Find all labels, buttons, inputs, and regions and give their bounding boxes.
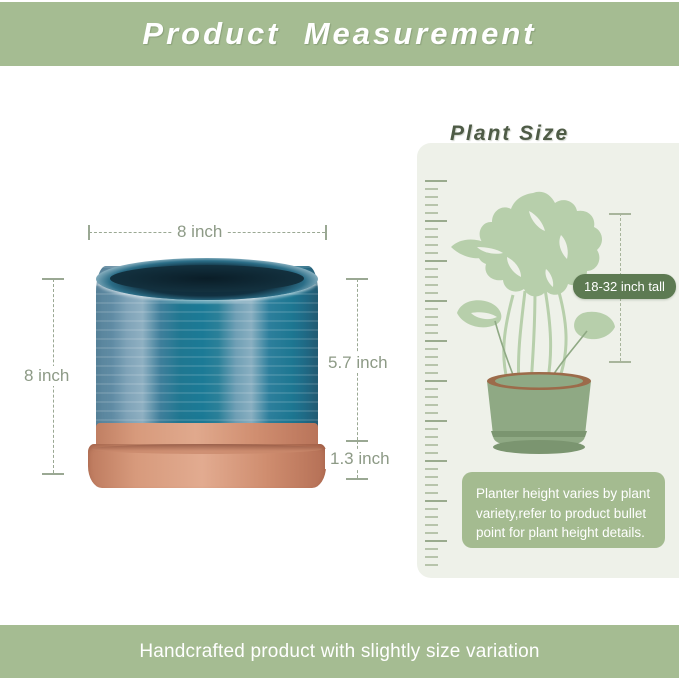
ruler-tick [425,284,438,286]
ruler-tick [425,260,447,262]
width-dimension-label: 8 inch [172,222,227,242]
note-line-1: Planter height varies by plant [476,484,651,504]
ruler-tick [425,428,438,430]
ruler-tick [425,300,447,302]
ruler-tick [425,412,438,414]
ruler-tick [425,484,438,486]
note-line-2: variety,refer to product bullet [476,504,651,524]
ruler-tick [425,332,438,334]
width-dim-cap-right [325,225,327,240]
ruler-tick [425,196,438,198]
ruler-tick [425,308,438,310]
ruler-tick [425,212,438,214]
ruler-tick [425,556,438,558]
ruler-tick [425,340,447,342]
saucer-height-dim-cap-bottom [346,478,368,480]
footer-note: Handcrafted product with slightly size v… [139,641,539,663]
ruler-tick [425,388,438,390]
height-dim-cap-bottom [42,473,64,475]
product-photo [88,258,326,488]
ruler-tick [425,564,438,566]
ruler-tick [425,444,438,446]
ruler-tick [425,476,438,478]
header-banner: Product Measurement [0,2,679,66]
plant-height-badge: 18-32 inch tall [573,274,676,299]
ruler-tick [425,532,438,534]
ruler-tick [425,188,438,190]
plant-size-panel: 18-32 inch tall Planter height varies by… [417,143,679,578]
ruler-tick [425,540,447,542]
ruler-tick [425,236,438,238]
ruler-tick [425,204,438,206]
ruler-tick [425,468,438,470]
ruler-tick [425,492,438,494]
ruler-tick [425,548,438,550]
ruler-tick [425,460,447,462]
pot-interior [110,265,304,292]
plant-illustration [447,185,622,485]
ruler-tick [425,516,438,518]
ruler-tick [425,316,438,318]
total-height-dimension-label: 8 inch [19,366,74,386]
ruler-tick [425,404,438,406]
page-title: Product Measurement [142,16,536,52]
ruler-tick [425,252,438,254]
product-measurement-diagram: 8 inch 8 inch 5.7 inch 1.3 inch [0,66,410,625]
saucer-height-dimension-label: 1.3 inch [325,449,395,469]
ruler-tick [425,364,438,366]
ruler-tick [425,452,438,454]
ruler-tick [425,268,438,270]
ruler-tick [425,356,438,358]
ruler-tick [425,220,447,222]
ruler-tick [425,180,447,182]
ruler-tick [425,396,438,398]
ruler-tick [425,500,447,502]
ruler-tick [425,348,438,350]
ruler-tick [425,372,438,374]
ruler-tick [425,292,438,294]
note-line-3: point for plant height details. [476,523,651,543]
ruler-tick [425,524,438,526]
ruler-tick [425,228,438,230]
ruler-tick [425,508,438,510]
plant-height-dim-cap-bottom [609,361,631,363]
saucer-lip [92,444,322,454]
ruler-tick [425,244,438,246]
footer-banner: Handcrafted product with slightly size v… [0,625,679,678]
ruler-tick [425,380,447,382]
plant-height-note: Planter height varies by plant variety,r… [462,472,665,548]
ruler-tick [425,324,438,326]
ruler-tick [425,420,447,422]
ruler-tick [425,276,438,278]
pot-saucer [88,444,326,488]
ruler-tick [425,436,438,438]
pot-height-dimension-label: 5.7 inch [323,353,393,373]
